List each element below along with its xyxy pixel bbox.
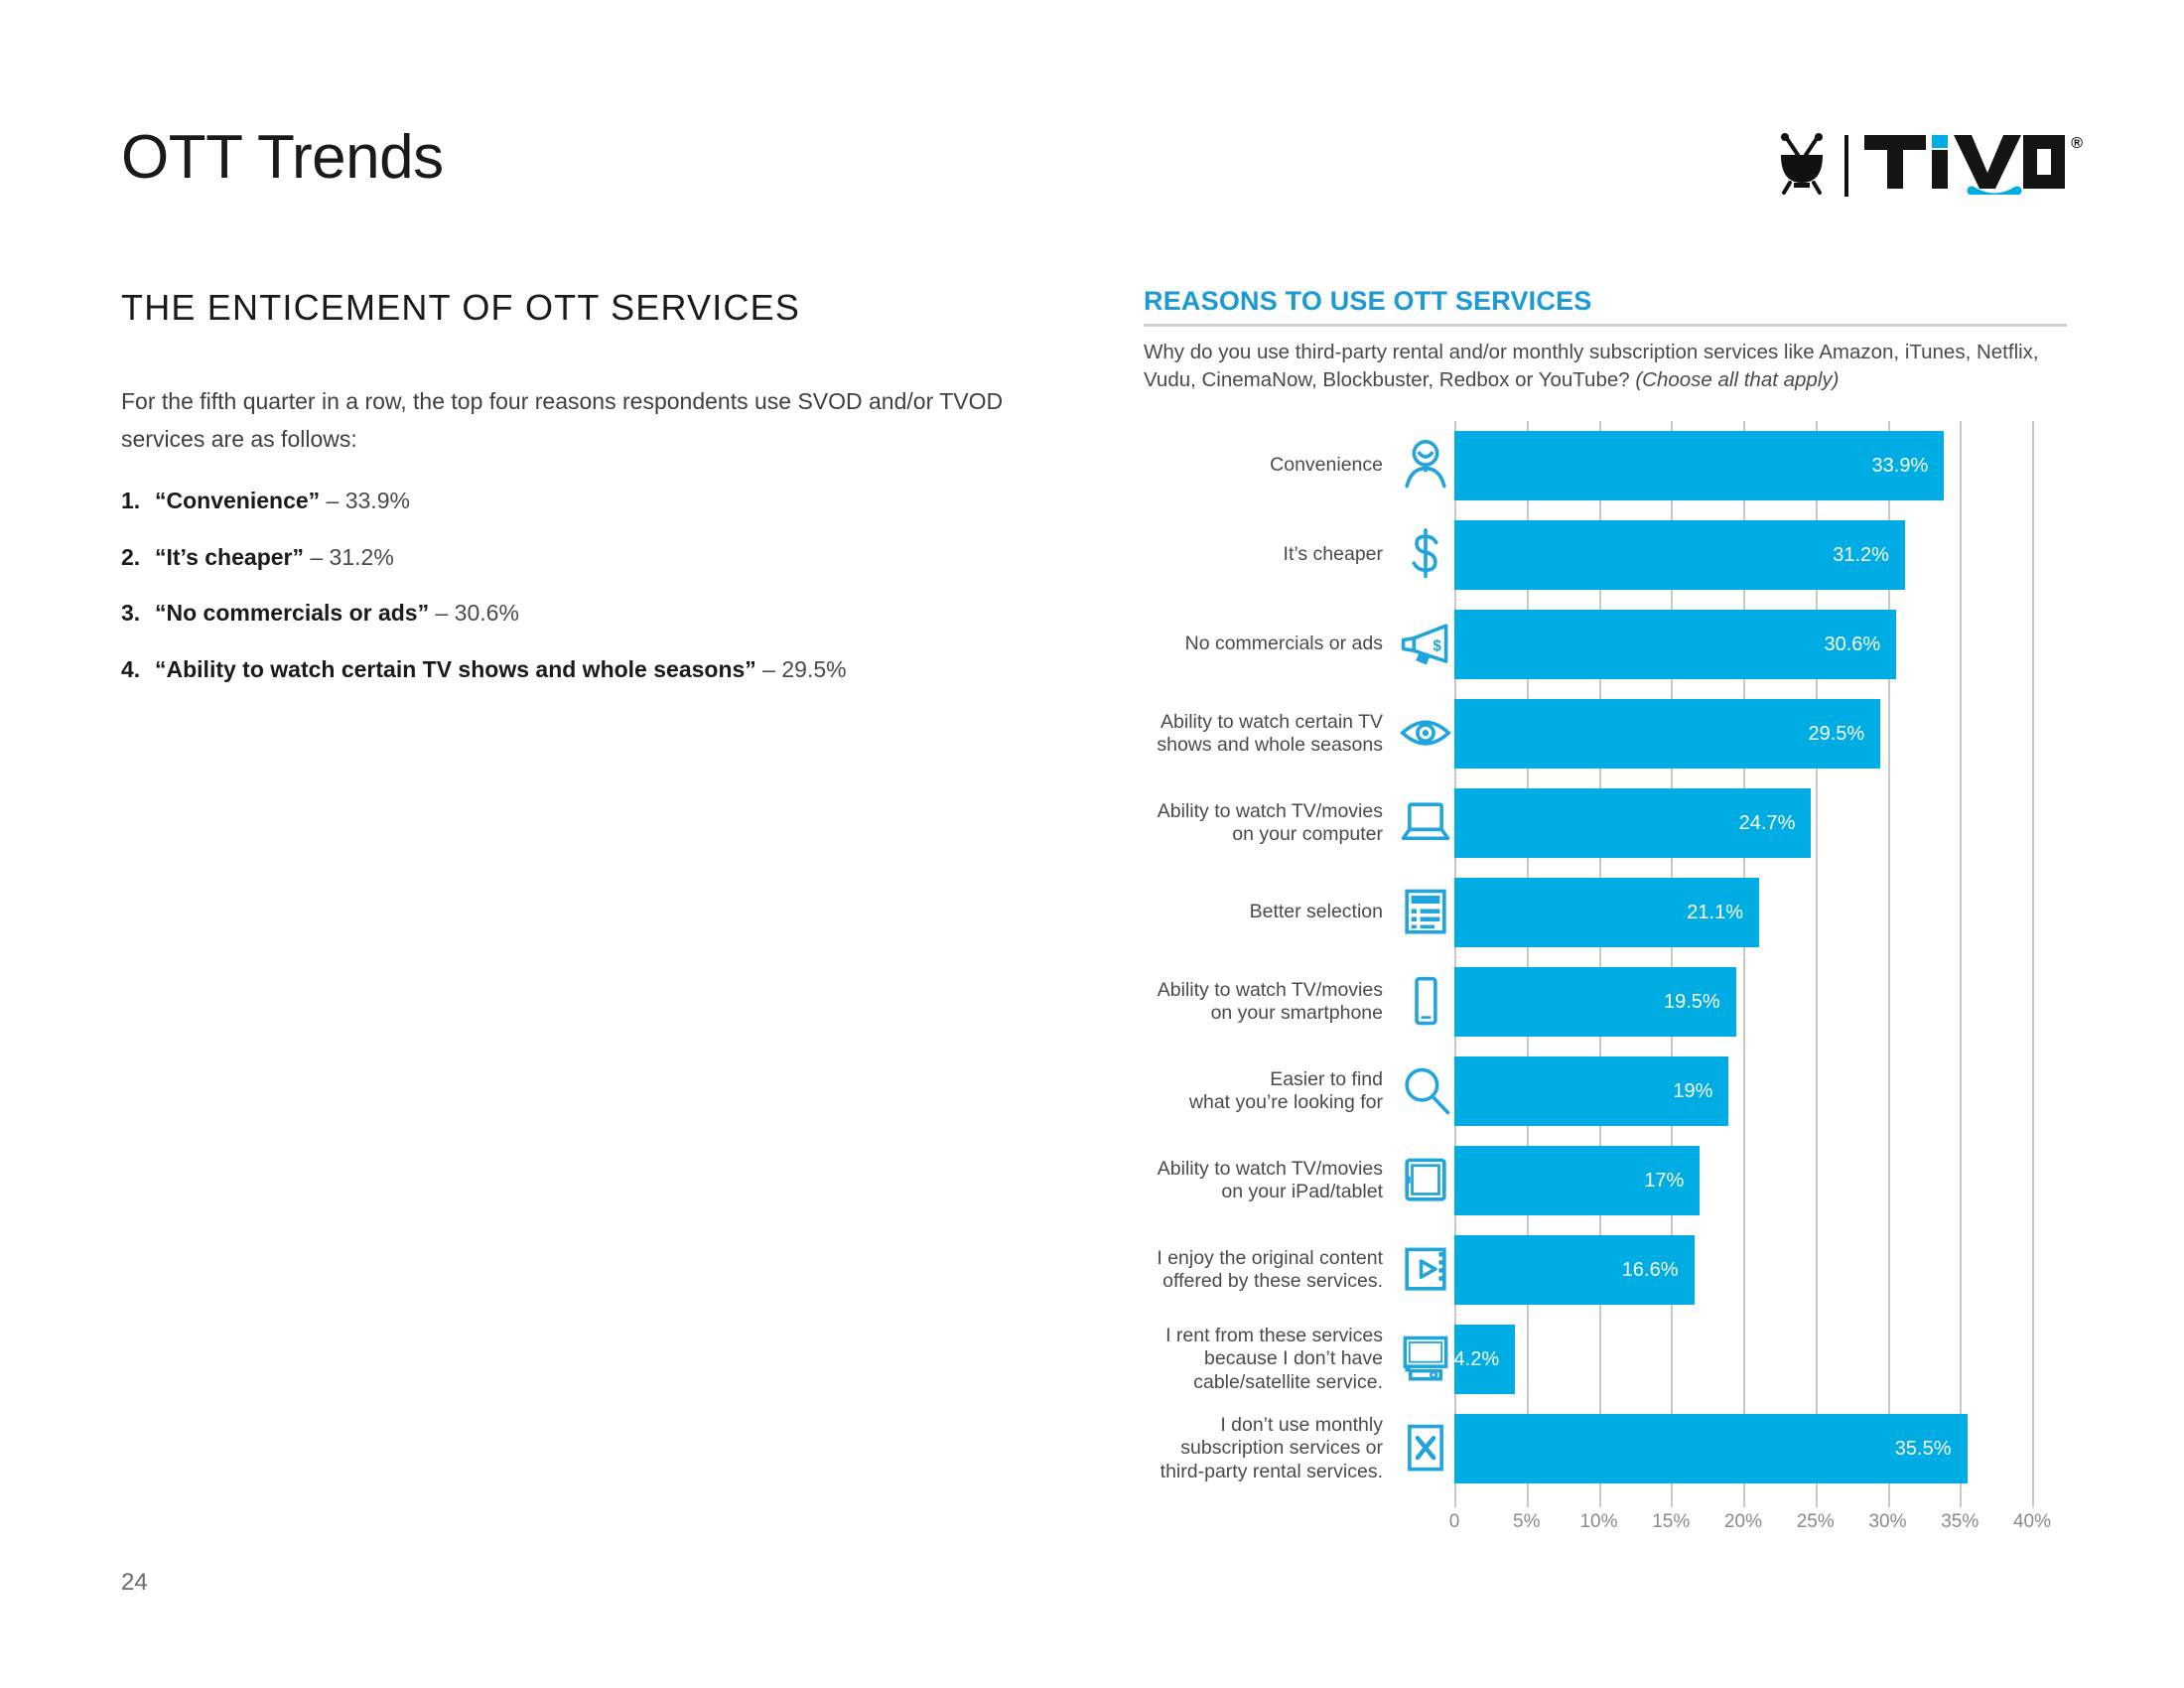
chart-row: I don’t use monthlysubscription services… bbox=[1144, 1404, 2067, 1493]
film-play-icon bbox=[1397, 1235, 1454, 1305]
chart-bar[interactable]: 29.5% bbox=[1454, 699, 1880, 769]
chart-bar-value: 30.6% bbox=[1825, 633, 1897, 656]
axis-tick-label: 25% bbox=[1797, 1511, 1835, 1533]
list-item-number: 2. bbox=[121, 540, 155, 575]
chart-row: It’s cheaper31.2% bbox=[1144, 510, 2067, 600]
chart-plot-area: Convenience33.9%It’s cheaper31.2%No comm… bbox=[1144, 421, 2067, 1493]
list-item: 3. “No commercials or ads” – 30.6% bbox=[121, 596, 1024, 631]
reasons-list: 1. “Convenience” – 33.9% 2. “It’s cheape… bbox=[121, 484, 1024, 686]
chart-x-axis: 05%10%15%20%25%30%35%40% bbox=[1454, 1493, 2067, 1549]
chart-row-label: It’s cheaper bbox=[1144, 543, 1397, 567]
chart-row: Easier to findwhat you’re looking for19% bbox=[1144, 1047, 2067, 1136]
chart-bar-value: 29.5% bbox=[1809, 723, 1881, 746]
axis-tick-label: 10% bbox=[1579, 1511, 1617, 1533]
chart-row-label: Easier to findwhat you’re looking for bbox=[1144, 1068, 1397, 1116]
chart-bar-value: 35.5% bbox=[1895, 1438, 1968, 1461]
chart-row: Ability to watch TV/movieson your smartp… bbox=[1144, 957, 2067, 1047]
axis-tick bbox=[1816, 1493, 1818, 1507]
chart-bar-zone: 19% bbox=[1454, 1047, 2067, 1136]
list-item-value: – 31.2% bbox=[304, 544, 394, 570]
chart-panel: REASONS TO USE OTT SERVICES Why do you u… bbox=[1144, 286, 2067, 1549]
axis-tick bbox=[2032, 1493, 2034, 1507]
chart-bar[interactable]: 31.2% bbox=[1454, 520, 1905, 590]
chart-row-label-line: Easier to find bbox=[1144, 1068, 1383, 1092]
page-title: OTT Trends bbox=[121, 127, 444, 189]
chart-bar-value: 16.6% bbox=[1622, 1259, 1695, 1282]
chart-row-label-line: Convenience bbox=[1144, 454, 1383, 478]
chart-row: I enjoy the original contentoffered by t… bbox=[1144, 1225, 2067, 1315]
chart-row: Better selection21.1% bbox=[1144, 868, 2067, 957]
chart-bar[interactable]: 4.2% bbox=[1454, 1325, 1515, 1394]
list-item: 2. “It’s cheaper” – 31.2% bbox=[121, 540, 1024, 575]
list-item-value: – 30.6% bbox=[429, 600, 519, 626]
chart-row-label-line: Ability to watch TV/movies bbox=[1144, 979, 1383, 1003]
person-icon bbox=[1397, 431, 1454, 500]
chart-row-label-line: Ability to watch TV/movies bbox=[1144, 800, 1383, 824]
axis-tick-label: 30% bbox=[1868, 1511, 1906, 1533]
chart-row-label: Better selection bbox=[1144, 901, 1397, 924]
chart-bar-value: 19% bbox=[1673, 1080, 1728, 1103]
chart-row-label: Ability to watch TV/movieson your iPad/t… bbox=[1144, 1158, 1397, 1205]
chart-row-label-line: because I don’t have bbox=[1144, 1347, 1383, 1371]
chart-rows: Convenience33.9%It’s cheaper31.2%No comm… bbox=[1144, 421, 2067, 1493]
chart-bar-zone: 30.6% bbox=[1454, 600, 2067, 689]
chart-bar-value: 19.5% bbox=[1664, 991, 1736, 1014]
axis-tick bbox=[1960, 1493, 1962, 1507]
axis-tick bbox=[1671, 1493, 1673, 1507]
axis-tick-label: 0 bbox=[1449, 1511, 1460, 1533]
magnifier-icon bbox=[1397, 1056, 1454, 1126]
axis-tick bbox=[1454, 1493, 1456, 1507]
axis-tick-label: 40% bbox=[2013, 1511, 2051, 1533]
left-content-column: THE ENTICEMENT OF OTT SERVICES For the f… bbox=[121, 288, 1024, 708]
chart-question-text: Why do you use third-party rental and/or… bbox=[1144, 341, 2039, 391]
chart-row-label-line: Ability to watch certain TV bbox=[1144, 711, 1383, 735]
tivo-logo: ® bbox=[1773, 131, 2067, 201]
chart-bar-zone: 17% bbox=[1454, 1136, 2067, 1225]
eye-icon bbox=[1397, 699, 1454, 769]
axis-tick-label: 15% bbox=[1652, 1511, 1690, 1533]
axis-tick bbox=[1888, 1493, 1890, 1507]
chart-row-label-line: on your smartphone bbox=[1144, 1002, 1383, 1026]
chart-row-label-line: cable/satellite service. bbox=[1144, 1371, 1383, 1395]
chart-bar-zone: 16.6% bbox=[1454, 1225, 2067, 1315]
list-item: 1. “Convenience” – 33.9% bbox=[121, 484, 1024, 518]
chart-row-label-line: on your iPad/tablet bbox=[1144, 1181, 1383, 1204]
chart-row: Ability to watch TV/movieson your iPad/t… bbox=[1144, 1136, 2067, 1225]
chart-row-label: I rent from these servicesbecause I don’… bbox=[1144, 1325, 1397, 1395]
chart-row-label-line: I enjoy the original content bbox=[1144, 1247, 1383, 1271]
chart-row-label: Ability to watch certain TVshows and who… bbox=[1144, 711, 1397, 759]
smartphone-icon bbox=[1397, 967, 1454, 1037]
list-item-value: – 29.5% bbox=[756, 656, 847, 682]
chart-question: Why do you use third-party rental and/or… bbox=[1144, 339, 2065, 393]
chart-row-label: Convenience bbox=[1144, 454, 1397, 478]
chart-bar[interactable]: 17% bbox=[1454, 1146, 1700, 1215]
chart-bar[interactable]: 24.7% bbox=[1454, 788, 1811, 858]
intro-paragraph: For the fifth quarter in a row, the top … bbox=[121, 383, 1015, 459]
axis-tick-label: 20% bbox=[1724, 1511, 1762, 1533]
registered-mark: ® bbox=[2071, 135, 2083, 153]
chart-bar-zone: 4.2% bbox=[1454, 1315, 2067, 1404]
chart-bar[interactable]: 30.6% bbox=[1454, 610, 1896, 679]
chart-row: No commercials or ads30.6% bbox=[1144, 600, 2067, 689]
chart-bar[interactable]: 16.6% bbox=[1454, 1235, 1695, 1305]
axis-tick-label: 5% bbox=[1513, 1511, 1540, 1533]
chart-row-label-line: what you’re looking for bbox=[1144, 1091, 1383, 1115]
axis-tick bbox=[1527, 1493, 1529, 1507]
axis-tick bbox=[1743, 1493, 1745, 1507]
section-heading: THE ENTICEMENT OF OTT SERVICES bbox=[121, 288, 1024, 328]
chart-bar-zone: 29.5% bbox=[1454, 689, 2067, 778]
chart-row-label-line: offered by these services. bbox=[1144, 1270, 1383, 1294]
chart-bar-value: 24.7% bbox=[1739, 812, 1812, 835]
chart-bar[interactable]: 19.5% bbox=[1454, 967, 1736, 1037]
chart-row: Ability to watch certain TVshows and who… bbox=[1144, 689, 2067, 778]
chart-row-label-line: on your computer bbox=[1144, 823, 1383, 847]
list-item-quote: “It’s cheaper” bbox=[155, 544, 304, 570]
list-item-number: 1. bbox=[121, 484, 155, 518]
chart-row-label-line: It’s cheaper bbox=[1144, 543, 1383, 567]
list-item-number: 4. bbox=[121, 652, 155, 687]
chart-bar-zone: 19.5% bbox=[1454, 957, 2067, 1047]
dollar-icon bbox=[1397, 520, 1454, 590]
chart-bar-zone: 24.7% bbox=[1454, 778, 2067, 868]
chart-bar[interactable]: 19% bbox=[1454, 1056, 1728, 1126]
tablet-icon bbox=[1397, 1146, 1454, 1215]
chart-row: I rent from these servicesbecause I don’… bbox=[1144, 1315, 2067, 1404]
chart-bar-value: 31.2% bbox=[1833, 544, 1905, 567]
axis-tick-label: 35% bbox=[1941, 1511, 1979, 1533]
chart-row-label-line: No commercials or ads bbox=[1144, 633, 1383, 656]
chart-row-label: I enjoy the original contentoffered by t… bbox=[1144, 1247, 1397, 1295]
chart-row-label: I don’t use monthlysubscription services… bbox=[1144, 1414, 1397, 1484]
list-item-quote: “No commercials or ads” bbox=[155, 600, 429, 626]
chart-bar[interactable]: 33.9% bbox=[1454, 431, 1944, 500]
chart-bar-value: 4.2% bbox=[1454, 1348, 1516, 1371]
chart-bar-zone: 21.1% bbox=[1454, 868, 2067, 957]
chart-title: REASONS TO USE OTT SERVICES bbox=[1144, 286, 2067, 317]
chart-bar-value: 17% bbox=[1644, 1170, 1700, 1193]
chart-row-label: Ability to watch TV/movieson your smartp… bbox=[1144, 979, 1397, 1027]
axis-tick bbox=[1599, 1493, 1601, 1507]
list-window-icon bbox=[1397, 878, 1454, 947]
chart-bar-zone: 35.5% bbox=[1454, 1404, 2067, 1493]
list-item: 4. “Ability to watch certain TV shows an… bbox=[121, 652, 1024, 687]
desktop-computer-icon bbox=[1397, 1325, 1454, 1394]
list-item-value: – 33.9% bbox=[320, 488, 410, 513]
x-box-icon bbox=[1397, 1414, 1454, 1483]
chart-row-label-line: I rent from these services bbox=[1144, 1325, 1383, 1348]
chart-row-label-line: I don’t use monthly bbox=[1144, 1414, 1383, 1438]
page-number: 24 bbox=[121, 1569, 148, 1597]
tivo-wordmark: ® bbox=[1864, 133, 2067, 200]
chart-bar[interactable]: 35.5% bbox=[1454, 1414, 1968, 1483]
logo-divider bbox=[1844, 135, 1848, 197]
chart-row-label-line: shows and whole seasons bbox=[1144, 734, 1383, 758]
list-item-quote: “Convenience” bbox=[155, 488, 320, 513]
chart-bar[interactable]: 21.1% bbox=[1454, 878, 1759, 947]
tivo-mascot-icon bbox=[1773, 133, 1831, 200]
chart-row: Convenience33.9% bbox=[1144, 421, 2067, 510]
list-item-number: 3. bbox=[121, 596, 155, 631]
list-item-quote: “Ability to watch certain TV shows and w… bbox=[155, 656, 756, 682]
chart-row-label: No commercials or ads bbox=[1144, 633, 1397, 656]
chart-bar-zone: 33.9% bbox=[1454, 421, 2067, 510]
chart-row: Ability to watch TV/movieson your comput… bbox=[1144, 778, 2067, 868]
chart-row-label-line: subscription services or bbox=[1144, 1437, 1383, 1461]
chart-row-label: Ability to watch TV/movieson your comput… bbox=[1144, 800, 1397, 848]
chart-title-rule bbox=[1144, 324, 2067, 327]
chart-bar-value: 33.9% bbox=[1872, 455, 1945, 478]
chart-row-label-line: Ability to watch TV/movies bbox=[1144, 1158, 1383, 1182]
chart-bar-value: 21.1% bbox=[1687, 902, 1759, 924]
chart-row-label-line: third-party rental services. bbox=[1144, 1461, 1383, 1484]
megaphone-icon bbox=[1397, 610, 1454, 679]
laptop-icon bbox=[1397, 788, 1454, 858]
chart-question-instruction: (Choose all that apply) bbox=[1635, 368, 1839, 391]
chart-row-label-line: Better selection bbox=[1144, 901, 1383, 924]
chart-bar-zone: 31.2% bbox=[1454, 510, 2067, 600]
